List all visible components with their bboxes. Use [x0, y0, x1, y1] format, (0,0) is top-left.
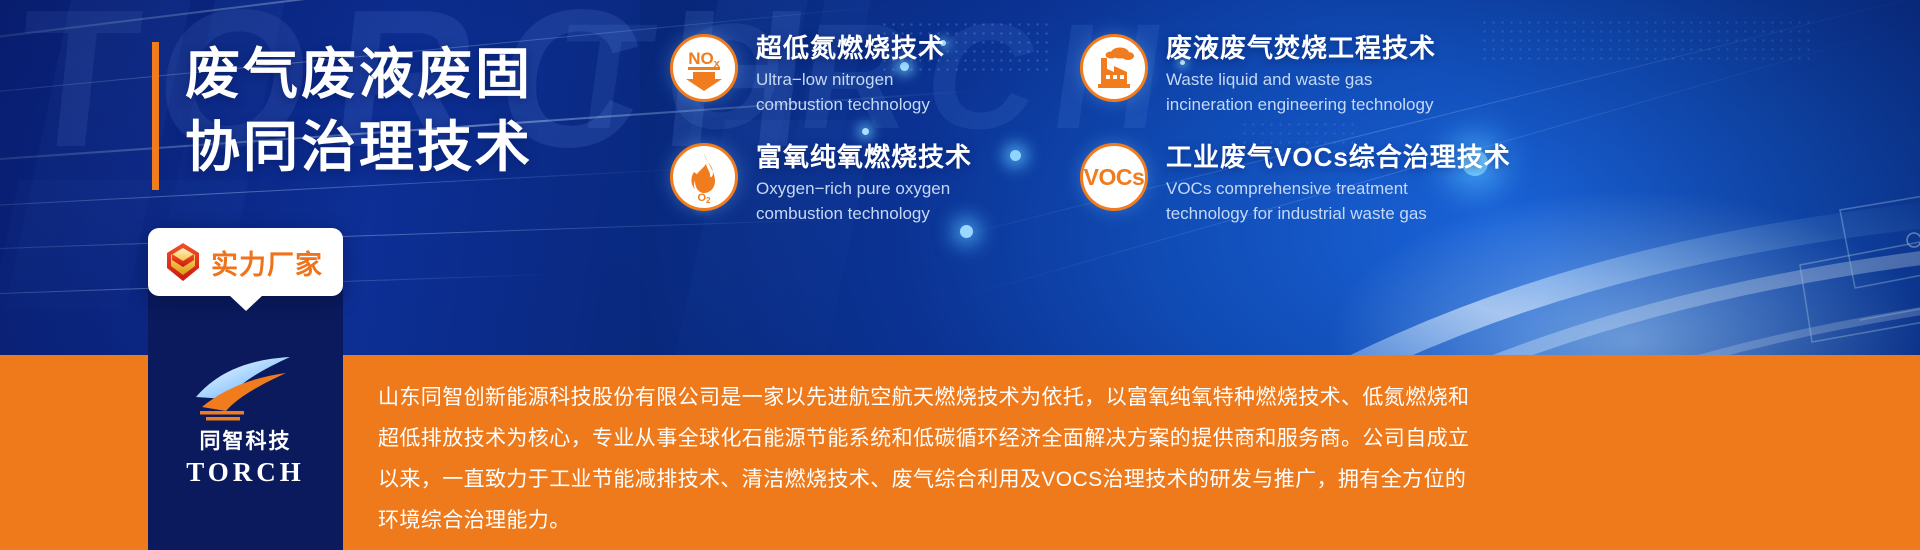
feature-item-waste-incineration[interactable]: 废液废气焚烧工程技术 Waste liquid and waste gas in… — [1080, 30, 1900, 135]
feature-item-ultra-low-nitrogen[interactable]: NOx 超低氮燃烧技术 Ultra−low nitrogen combustio… — [670, 30, 1070, 135]
feature-subtitle-line2: technology for industrial waste gas — [1166, 203, 1511, 225]
description-line-3: 以来，一直致力于工业节能减排技术、清洁燃烧技术、废气综合利用及VOCS治理技术的… — [378, 460, 1798, 501]
feature-item-vocs-treatment[interactable]: VOCs 工业废气VOCs综合治理技术 VOCs comprehensive t… — [1080, 139, 1900, 244]
svg-text:NOx: NOx — [688, 49, 721, 70]
feature-item-oxygen-rich-combustion[interactable]: O2 富氧纯氧燃烧技术 Oxygen−rich pure oxygen comb… — [670, 139, 1070, 244]
svg-text:O2: O2 — [697, 192, 711, 203]
feature-subtitle-line2: combustion technology — [756, 203, 972, 225]
feature-title: 超低氮燃烧技术 — [756, 32, 945, 65]
nox-arrow-icon: NOx — [670, 34, 738, 102]
flame-oxygen-icon: O2 — [670, 143, 738, 211]
feature-subtitle-line1: VOCs comprehensive treatment — [1166, 178, 1511, 200]
description-line-2: 超低排放技术为核心，专业从事全球化石能源节能系统和低碳循环经济全面解决方案的提供… — [378, 419, 1798, 460]
company-description: 山东同智创新能源科技股份有限公司是一家以先进航空航天燃烧技术为依托，以富氧纯氧特… — [378, 378, 1798, 542]
description-line-4: 环境综合治理能力。 — [378, 501, 1798, 542]
badge-label: 实力厂家 — [211, 243, 323, 282]
feature-list: NOx 超低氮燃烧技术 Ultra−low nitrogen combustio… — [670, 30, 1900, 244]
description-line-1: 山东同智创新能源科技股份有限公司是一家以先进航空航天燃烧技术为依托，以富氧纯氧特… — [378, 378, 1798, 419]
logo-name-en: TORCH — [186, 457, 305, 488]
feature-subtitle-line1: Ultra−low nitrogen — [756, 69, 945, 91]
shield-emblem-icon — [164, 241, 202, 283]
vocs-icon-label: VOCs — [1084, 164, 1145, 191]
title-line-1: 废气废液废固 — [185, 38, 533, 111]
factory-smokestack-icon — [1080, 34, 1148, 102]
feature-subtitle-line2: incineration engineering technology — [1166, 94, 1436, 116]
feature-title: 工业废气VOCs综合治理技术 — [1166, 141, 1511, 174]
torch-wing-icon — [186, 353, 306, 423]
title-line-2: 协同治理技术 — [185, 111, 533, 184]
banner-title: 废气废液废固 协同治理技术 — [152, 38, 533, 190]
strength-manufacturer-badge[interactable]: 实力厂家 — [148, 228, 343, 296]
feature-title: 富氧纯氧燃烧技术 — [756, 141, 972, 174]
promotional-banner: TORCH TORCH — [0, 0, 1920, 550]
company-logo-panel: 同智科技 TORCH — [148, 290, 343, 550]
feature-subtitle-line2: combustion technology — [756, 94, 945, 116]
feature-subtitle-line1: Oxygen−rich pure oxygen — [756, 178, 972, 200]
title-accent-bar — [152, 42, 159, 190]
feature-subtitle-line1: Waste liquid and waste gas — [1166, 69, 1436, 91]
logo-name-cn: 同智科技 — [200, 425, 292, 455]
vocs-text-icon: VOCs — [1080, 143, 1148, 211]
feature-title: 废液废气焚烧工程技术 — [1166, 32, 1436, 65]
